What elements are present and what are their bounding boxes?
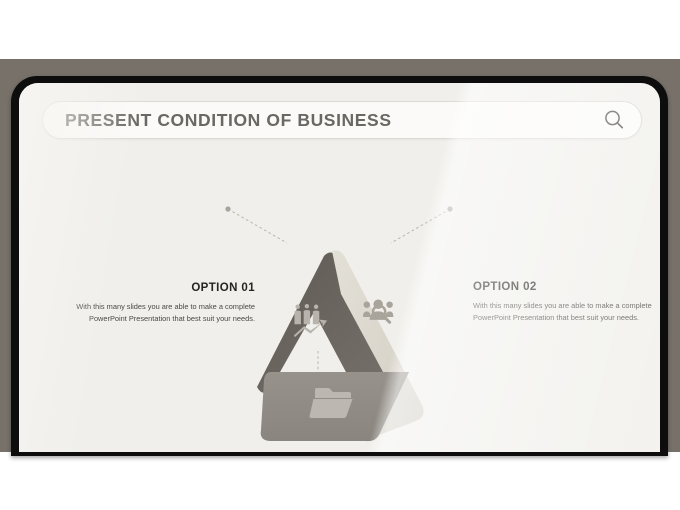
title-search-bar[interactable]: PRESENT CONDITION OF BUSINESS [42, 101, 642, 139]
screenshot-stage: PRESENT CONDITION OF BUSINESS [0, 0, 680, 510]
option-02-body: With this many slides you are able to ma… [473, 300, 653, 324]
option-01-body: With this many slides you are able to ma… [75, 301, 255, 325]
page-title: PRESENT CONDITION OF BUSINESS [65, 110, 601, 131]
option-02-block: OPTION 02 With this many slides you are … [473, 281, 653, 324]
search-icon[interactable] [601, 107, 627, 133]
option-01-title: OPTION 01 [75, 282, 255, 294]
option-01-block: OPTION 01 With this many slides you are … [75, 282, 255, 325]
triangle-infographic [251, 246, 433, 442]
option-02-title: OPTION 02 [473, 281, 653, 293]
folder-icon [310, 388, 353, 418]
slide-canvas: PRESENT CONDITION OF BUSINESS [19, 83, 660, 452]
